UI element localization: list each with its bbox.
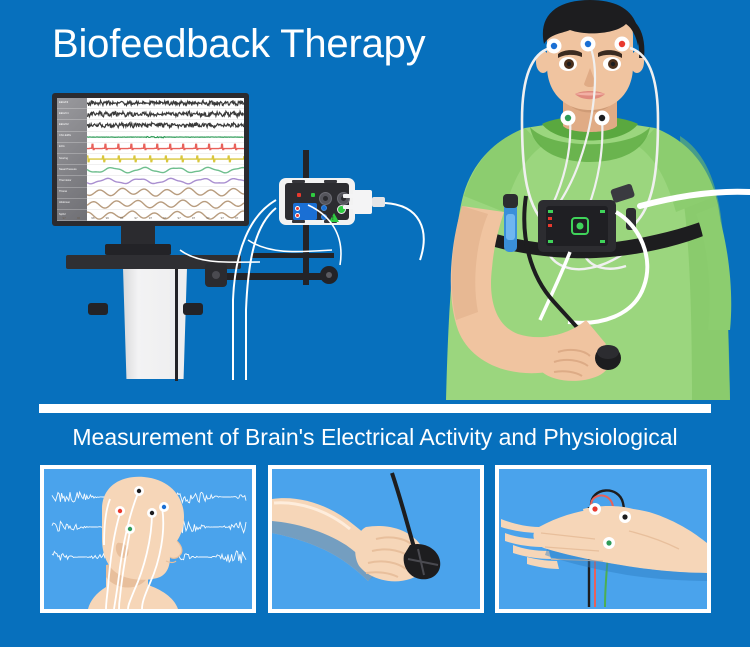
channel-label: EEG/F3 (57, 98, 87, 109)
trace-row (87, 199, 244, 210)
spo2-value: 97 (235, 216, 238, 220)
page-subtitle: Measurement of Brain's Electrical Activi… (0, 424, 750, 451)
electrode-middle (619, 511, 631, 523)
hand-electrodes-illustration (499, 469, 707, 609)
spo2-value: 96 (91, 216, 94, 220)
channel-label: ECG (57, 143, 87, 154)
channel-label: Nasal Pressure (57, 165, 87, 176)
trace-row (87, 143, 244, 154)
patient-illustration (430, 0, 750, 400)
trace-row (87, 132, 244, 143)
poster-root: Biofeedback Therapy EEG/F3 EEG/C4 EEG/O2… (0, 0, 750, 647)
electrode-index (589, 503, 601, 515)
electrode-forehead-mid (581, 37, 596, 52)
spo2-value: 97 (192, 216, 195, 220)
eeg-amplifier (279, 178, 355, 225)
spo2-value: 96 (120, 216, 123, 220)
eeg-head-panel (40, 465, 256, 613)
spo2-value: 97 (178, 216, 181, 220)
trace-row (87, 187, 244, 198)
monitor-screen: EEG/F3 EEG/C4 EEG/O2 Chin EMG ECG Snorin… (57, 98, 244, 221)
electrode-vertex (134, 486, 144, 496)
spo2-value: 97 (63, 216, 66, 220)
electrode-central (147, 508, 157, 518)
spo2-value: 96 (77, 216, 80, 220)
spo2-value: 97 (149, 216, 152, 220)
eeg-head-illustration (44, 469, 252, 609)
electrode-port-panel (293, 203, 317, 220)
trace-row (87, 120, 244, 131)
power-plug (353, 190, 372, 214)
channel-label: Thorax (57, 188, 87, 199)
trace-row (87, 165, 244, 176)
hand-sensor-illustration (272, 469, 480, 609)
desk-knob-left (88, 303, 108, 315)
spo2-value: 97 (163, 216, 166, 220)
electrode-frontal (115, 506, 125, 516)
spo2-value: 97 (221, 216, 224, 220)
hand-sensor-panel (268, 465, 484, 613)
polysomnography-monitor: EEG/F3 EEG/C4 EEG/O2 Chin EMG ECG Snorin… (52, 93, 249, 226)
warning-triangle-icon (329, 213, 339, 222)
electrode-cheek-left (561, 111, 576, 126)
spo2-value: 97 (206, 216, 209, 220)
channel-label: Abdomen (57, 199, 87, 210)
page-title: Biofeedback Therapy (52, 22, 426, 67)
amplifier-tab (292, 220, 305, 223)
channel-label: Chin EMG (57, 132, 87, 143)
trace-area (87, 98, 244, 221)
electrode-parietal (159, 502, 169, 512)
trace-row (87, 109, 244, 120)
electrode-forehead-right (615, 37, 630, 52)
equipment-cart-joint (205, 263, 227, 287)
channel-label-column: EEG/F3 EEG/C4 EEG/O2 Chin EMG ECG Snorin… (57, 98, 87, 221)
equipment-cart-arm (213, 273, 333, 280)
trace-row (87, 98, 244, 109)
desk-support-pole (175, 269, 178, 381)
channel-label: EEG/C4 (57, 109, 87, 120)
equipment-cart-wheel (320, 266, 338, 284)
din-connector-icon (319, 192, 332, 205)
electrode-forehead-left (547, 39, 562, 54)
spo2-value: 96 (106, 216, 109, 220)
electrode-port-icon (295, 206, 300, 211)
equipment-cart-bar (252, 253, 334, 258)
status-led-icon (311, 193, 315, 197)
trace-row (87, 176, 244, 187)
channel-label: EEG/O2 (57, 120, 87, 131)
desk-pedestal (121, 269, 189, 379)
section-divider (39, 404, 711, 413)
trace-row (87, 154, 244, 165)
electrode-temporal (125, 524, 135, 534)
monitor-neck (121, 226, 155, 244)
plug-cable-neck (372, 197, 385, 207)
amplifier-button[interactable] (321, 205, 327, 211)
hand-electrodes-panel (495, 465, 711, 613)
electrode-palm (603, 537, 615, 549)
electrode-port-icon (295, 213, 300, 218)
desk-knob-right (183, 303, 203, 315)
channel-label: Thermistor (57, 176, 87, 187)
amplifier-button[interactable] (321, 214, 327, 220)
spo2-value-row: 97969696969797979797979797 (57, 216, 244, 220)
spo2-value: 97 (134, 216, 137, 220)
power-led-icon (297, 193, 301, 197)
amplifier-front-panel (285, 183, 349, 220)
monitor-foot (105, 244, 171, 255)
electrode-cheek-right (595, 111, 610, 126)
channel-label: Snoring (57, 154, 87, 165)
